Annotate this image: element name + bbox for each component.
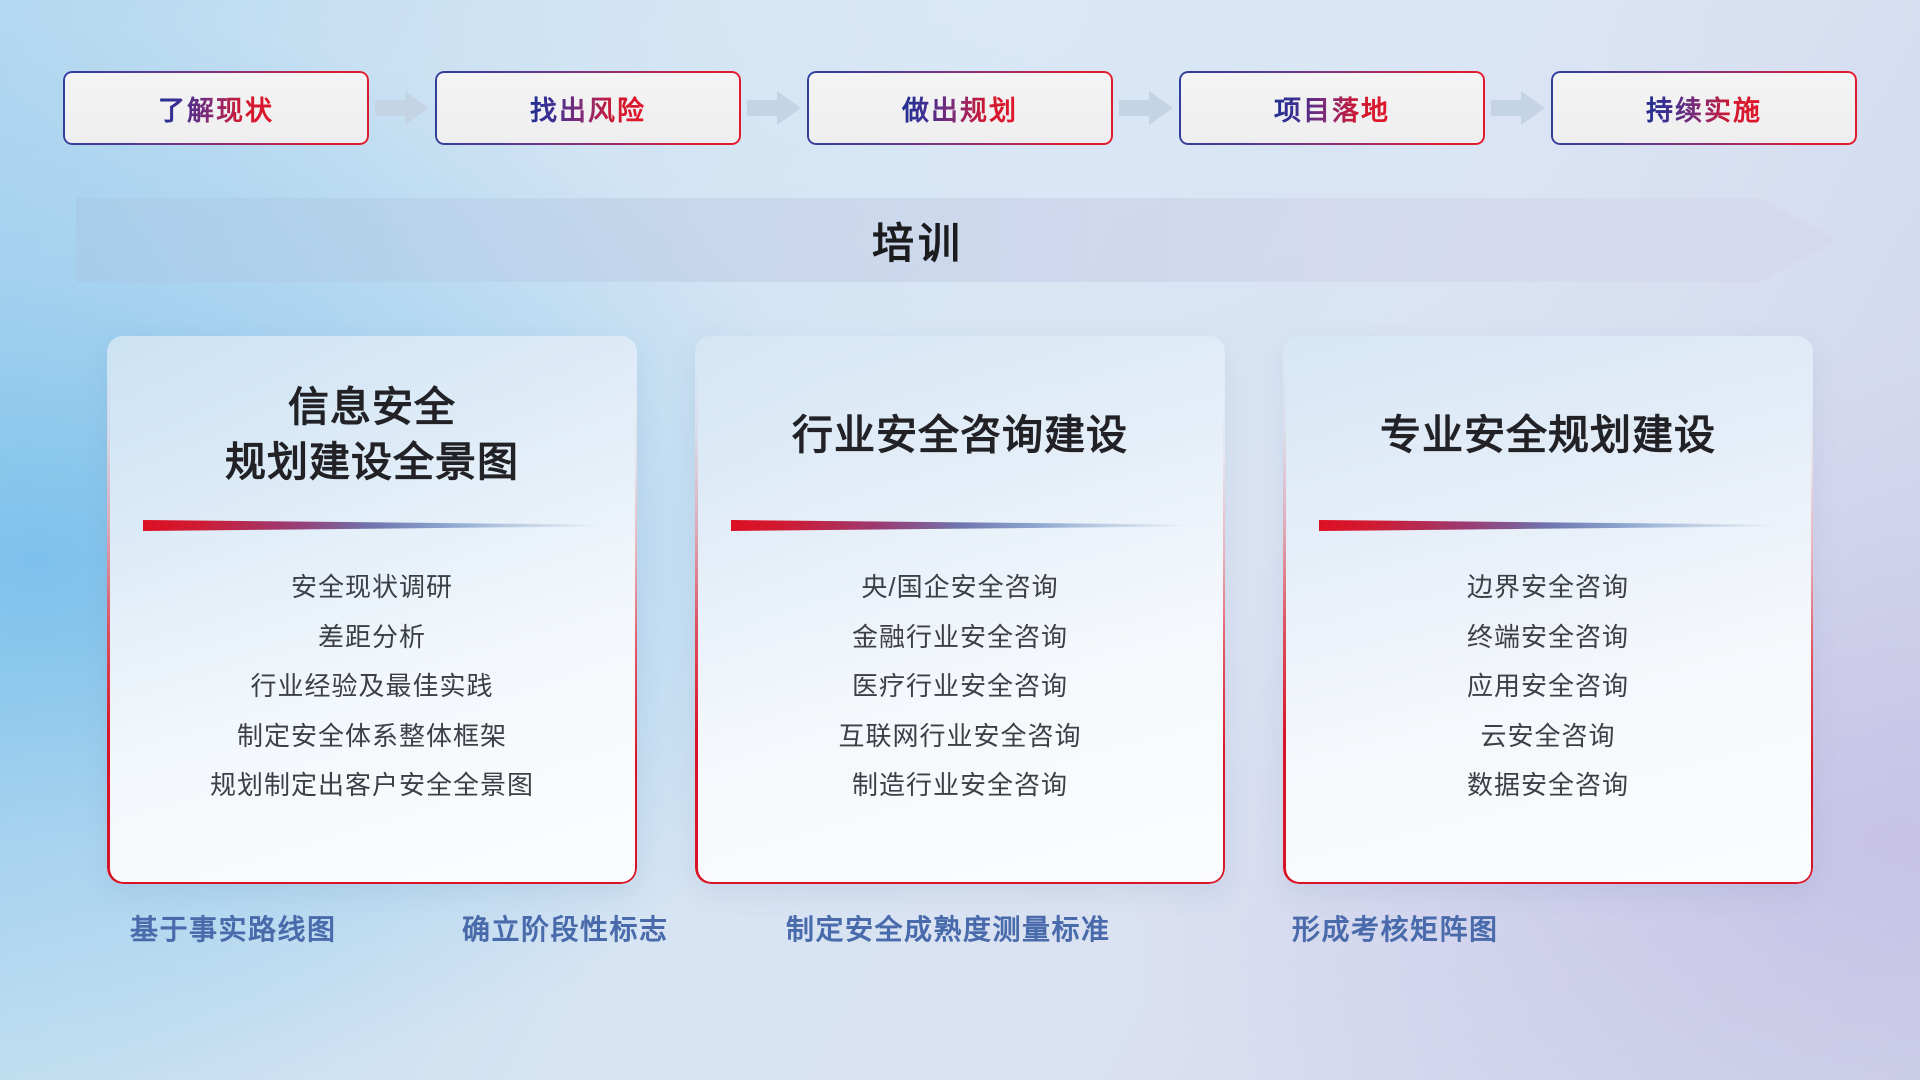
list-item: 金融行业安全咨询 xyxy=(852,621,1068,654)
card-list-2: 边界安全咨询 终端安全咨询 应用安全咨询 云安全咨询 数据安全咨询 xyxy=(1467,571,1629,802)
card-list-1: 央/国企安全咨询 金融行业安全咨询 医疗行业安全咨询 互联网行业安全咨询 制造行… xyxy=(838,571,1081,802)
list-item: 安全现状调研 xyxy=(291,571,453,604)
step-label-0: 了解现状 xyxy=(158,89,274,128)
list-item: 央/国企安全咨询 xyxy=(861,571,1058,604)
list-item: 互联网行业安全咨询 xyxy=(838,720,1081,753)
step-label-1: 找出风险 xyxy=(530,89,646,128)
step-box-2[interactable]: 做出规划 xyxy=(807,71,1113,145)
list-item: 医疗行业安全咨询 xyxy=(852,670,1068,703)
card-title-2: 专业安全规划建设 xyxy=(1380,380,1716,490)
list-item: 边界安全咨询 xyxy=(1467,571,1629,604)
bottom-captions: 基于事实路线图 确立阶段性标志 制定安全成熟度测量标准 形成考核矩阵图 xyxy=(0,908,1920,968)
training-banner: 培训 xyxy=(76,198,1838,282)
step-label-2: 做出规划 xyxy=(902,89,1018,128)
list-item: 规划制定出客户安全全景图 xyxy=(210,769,534,802)
caption-2: 制定安全成熟度测量标准 xyxy=(786,908,1111,948)
step-box-3[interactable]: 项目落地 xyxy=(1179,71,1485,145)
card-title-line: 信息安全 xyxy=(225,380,519,435)
step-label-4: 持续实施 xyxy=(1646,89,1762,128)
step-box-1[interactable]: 找出风险 xyxy=(435,71,741,145)
list-item: 制定安全体系整体框架 xyxy=(237,720,507,753)
card-title-1: 行业安全咨询建设 xyxy=(792,380,1128,490)
list-item: 差距分析 xyxy=(318,621,426,654)
list-item: 终端安全咨询 xyxy=(1467,621,1629,654)
card-divider-2 xyxy=(1319,520,1777,531)
card-title-line: 专业安全规划建设 xyxy=(1380,408,1716,463)
caption-1: 确立阶段性标志 xyxy=(462,908,669,948)
right-arrow-icon xyxy=(1113,88,1179,128)
card-0[interactable]: 信息安全 规划建设全景图 安全现状调研 差距分析 行业经验及最佳实践 制定安全体… xyxy=(107,336,637,884)
step-label-3: 项目落地 xyxy=(1274,89,1390,128)
card-2[interactable]: 专业安全规划建设 边界安全咨询 终端安全咨询 应用安全咨询 云安全咨询 数据安全… xyxy=(1283,336,1813,884)
banner-title: 培训 xyxy=(76,198,1838,282)
step-box-4[interactable]: 持续实施 xyxy=(1551,71,1857,145)
card-divider-0 xyxy=(143,520,601,531)
card-list-0: 安全现状调研 差距分析 行业经验及最佳实践 制定安全体系整体框架 规划制定出客户… xyxy=(210,571,534,802)
list-item: 数据安全咨询 xyxy=(1467,769,1629,802)
card-title-line: 规划建设全景图 xyxy=(225,435,519,490)
process-step-flow: 了解现状 找出风险 做出规划 项目落地 持续实施 xyxy=(0,70,1920,146)
service-cards: 信息安全 规划建设全景图 安全现状调研 差距分析 行业经验及最佳实践 制定安全体… xyxy=(0,336,1920,884)
list-item: 制造行业安全咨询 xyxy=(852,769,1068,802)
card-divider-1 xyxy=(731,520,1189,531)
list-item: 行业经验及最佳实践 xyxy=(250,670,493,703)
list-item: 应用安全咨询 xyxy=(1467,670,1629,703)
right-arrow-icon xyxy=(741,88,807,128)
caption-0: 基于事实路线图 xyxy=(130,908,337,948)
card-title-line: 行业安全咨询建设 xyxy=(792,408,1128,463)
list-item: 云安全咨询 xyxy=(1480,720,1615,753)
right-arrow-icon xyxy=(369,88,435,128)
card-title-0: 信息安全 规划建设全景图 xyxy=(225,380,519,490)
caption-3: 形成考核矩阵图 xyxy=(1292,908,1499,948)
step-box-0[interactable]: 了解现状 xyxy=(63,71,369,145)
right-arrow-icon xyxy=(1485,88,1551,128)
card-1[interactable]: 行业安全咨询建设 央/国企安全咨询 金融行业安全咨询 医疗行业安全咨询 互联网行… xyxy=(695,336,1225,884)
